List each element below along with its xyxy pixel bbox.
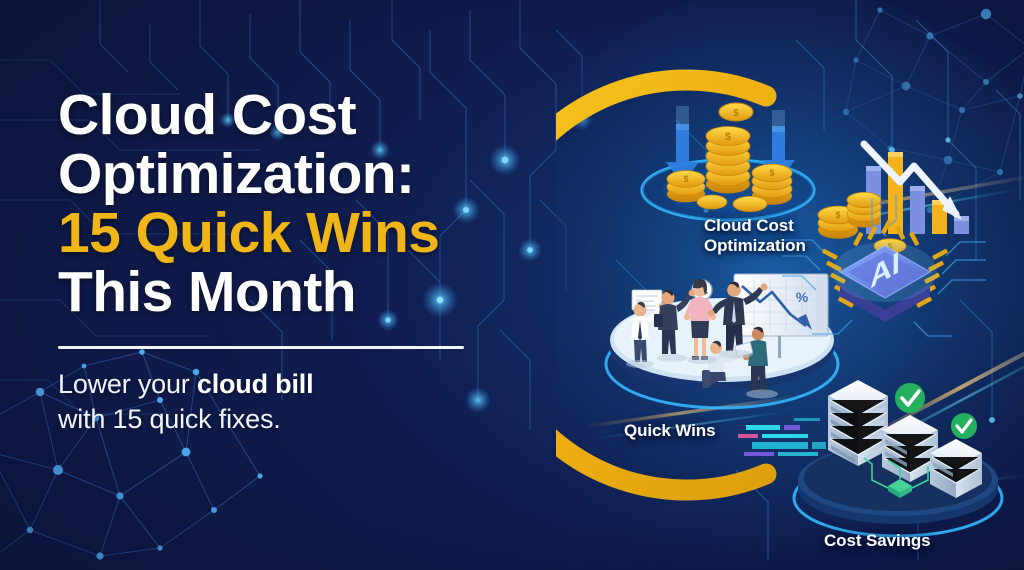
label-cost-savings: Cost Savings — [824, 531, 931, 551]
label-cco-line2: Optimization — [704, 236, 806, 256]
coin-icon: $ — [719, 103, 753, 121]
svg-text:$: $ — [835, 210, 840, 220]
svg-text:$: $ — [683, 174, 688, 184]
illustration-panel: $ $ — [556, 0, 1024, 570]
svg-text:%: % — [796, 289, 809, 305]
label-quick-wins: Quick Wins — [624, 421, 715, 441]
headline-line-4: This Month — [58, 260, 356, 324]
headline-line-1: Cloud Cost — [58, 83, 356, 147]
headline-line-3-highlight: 15 Quick Wins — [58, 201, 439, 265]
title-divider — [58, 346, 464, 349]
label-cloud-cost-optimization: Cloud Cost Optimization — [704, 216, 806, 256]
label-cco-line1: Cloud Cost — [704, 216, 806, 236]
coin-stack-left-icon: $ — [667, 171, 705, 203]
headline-line-2: Optimization: — [58, 142, 414, 206]
server-rack-tall-icon — [828, 380, 888, 466]
svg-text:$: $ — [769, 168, 774, 178]
subtitle-part-2: with 15 quick fixes. — [58, 404, 281, 434]
coin-stack-center-icon: $ — [706, 127, 750, 194]
marketing-banner: $ $ — [0, 0, 1024, 570]
headline-block: Cloud Cost Optimization: 15 Quick Wins T… — [58, 86, 558, 464]
svg-text:$: $ — [725, 131, 731, 143]
svg-text:$: $ — [733, 108, 739, 119]
subtitle-bold: cloud bill — [197, 369, 314, 399]
subtitle: Lower your cloud bill with 15 quick fixe… — [58, 367, 558, 437]
page-title: Cloud Cost Optimization: 15 Quick Wins T… — [58, 86, 558, 322]
subtitle-part-1: Lower your — [58, 369, 197, 399]
